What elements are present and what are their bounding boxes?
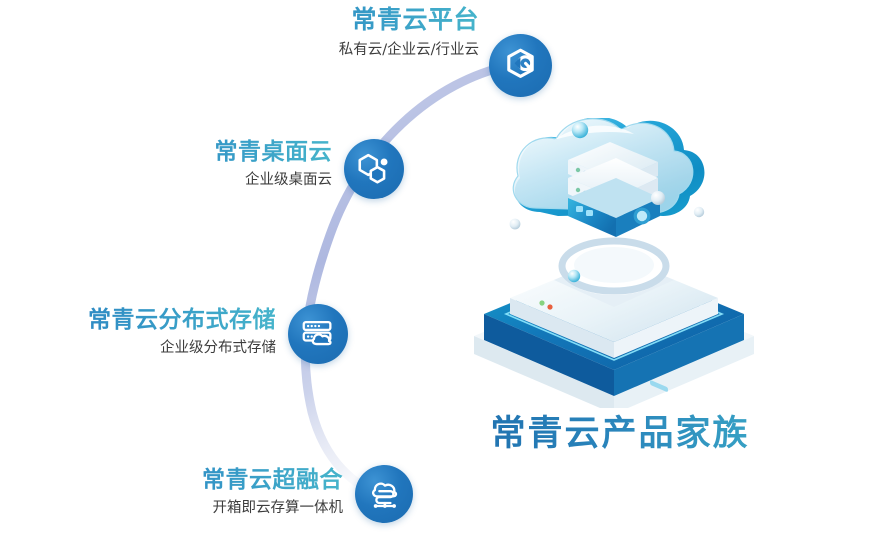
cloud-server-on-platform-illustration bbox=[462, 118, 768, 408]
floating-bubble bbox=[510, 219, 521, 230]
cloud-network-icon[interactable] bbox=[355, 465, 413, 523]
family-title: 常青云产品家族 bbox=[455, 405, 785, 456]
floating-bubble bbox=[651, 191, 665, 205]
floating-bubble bbox=[568, 270, 580, 282]
product-subtitle-storage: 企业级分布式存储 bbox=[28, 339, 276, 358]
floating-bubble bbox=[694, 207, 704, 217]
floating-bubble bbox=[572, 122, 588, 138]
product-subtitle-desktop: 企业级桌面云 bbox=[100, 171, 332, 190]
product-label-platform: 常青云平台 私有云/企业云/行业云 bbox=[243, 6, 479, 60]
product-label-hci: 常青云超融合 开箱即云存算一体机 bbox=[110, 467, 343, 518]
product-title-desktop: 常青桌面云 bbox=[100, 139, 332, 165]
product-label-storage: 常青云分布式存储 企业级分布式存储 bbox=[28, 307, 276, 358]
cloud-hexagon-q-icon[interactable] bbox=[489, 34, 552, 97]
product-title-platform: 常青云平台 bbox=[243, 6, 479, 35]
product-subtitle-hci: 开箱即云存算一体机 bbox=[110, 499, 343, 518]
server-cloud-icon[interactable] bbox=[288, 304, 348, 364]
product-title-storage: 常青云分布式存储 bbox=[28, 307, 276, 333]
product-label-desktop: 常青桌面云 企业级桌面云 bbox=[100, 139, 332, 190]
hexagon-nodes-icon[interactable] bbox=[344, 139, 404, 199]
product-subtitle-platform: 私有云/企业云/行业云 bbox=[243, 41, 479, 60]
poster-canvas: 常青云平台 私有云/企业云/行业云 常青桌面云 企业级桌面云 bbox=[0, 0, 869, 554]
product-title-hci: 常青云超融合 bbox=[110, 467, 343, 493]
